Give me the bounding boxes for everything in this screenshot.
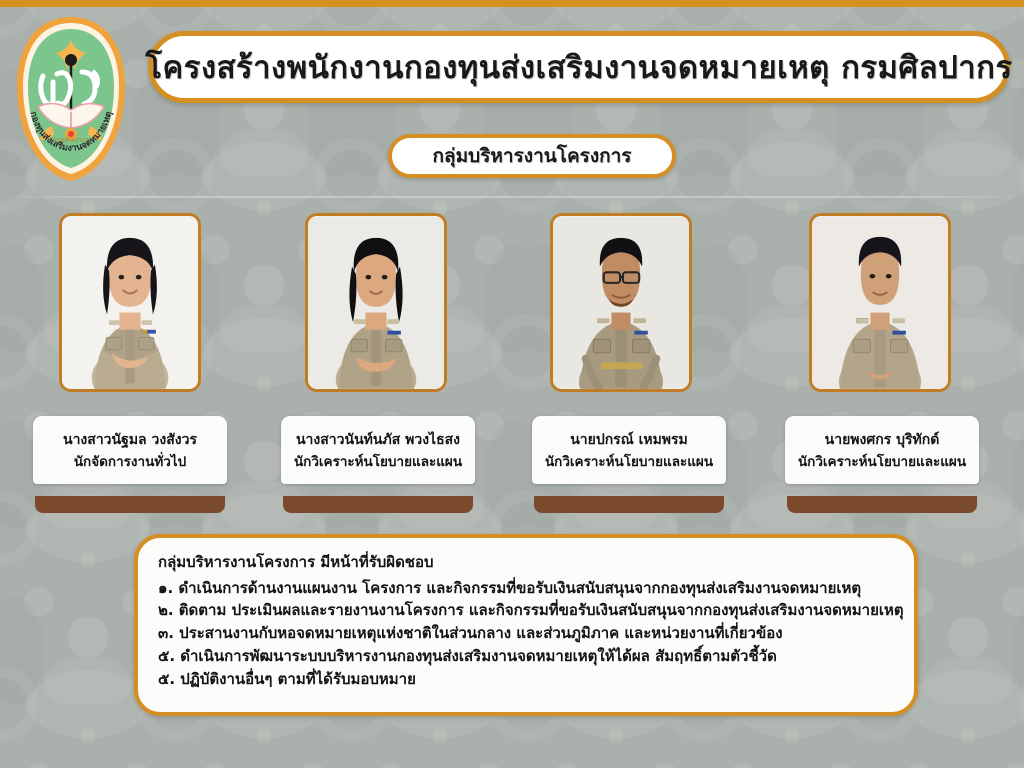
duty-item-4: ๕. ดำเนินการพัฒนาระบบบริหารงานกองทุนส่งเ… <box>158 645 894 668</box>
poster-canvas: กรมศิลปากร กองทุนส่งเสริมงานจดหมายเหตุ โ… <box>0 0 1024 768</box>
duty-item-2: ๒. ติดตาม ประเมินผลและรายงานงานโครงการ แ… <box>158 599 894 622</box>
person-card-footer-bar <box>534 496 724 513</box>
top-accent-bar <box>0 0 1024 7</box>
person-name: นางสาวนันท์นภัส พวงไธสง <box>287 430 469 452</box>
person-position: นักวิเคราะห์นโยบายและแผน <box>287 452 469 473</box>
person-photo <box>308 216 444 389</box>
person-photo-frame <box>550 213 692 392</box>
group-name-label: กลุ่มบริหารงานโครงการ <box>432 141 631 171</box>
person-card: นายพงศกร บุริทักด์ นักวิเคราะห์นโยบายและ… <box>785 213 979 392</box>
page-title: โครงสร้างพนักงานกองทุนส่งเสริมงานจดหมายเ… <box>145 42 1012 92</box>
person-name-card: นางสาวนัฐมล วงสังวร นักจัดการงานทั่วไป <box>33 416 227 484</box>
person-photo-frame <box>59 213 201 392</box>
person-name: นางสาวนัฐมล วงสังวร <box>39 430 221 452</box>
poster-title-banner: โครงสร้างพนักงานกองทุนส่งเสริมงานจดหมายเ… <box>148 31 1010 103</box>
person-card-footer-bar <box>35 496 225 513</box>
person-photo <box>553 216 689 389</box>
person-photo <box>812 216 948 389</box>
person-card-footer-bar <box>787 496 977 513</box>
person-card: นางสาวนัฐมล วงสังวร นักจัดการงานทั่วไป <box>33 213 227 392</box>
person-name-card: นางสาวนันท์นภัส พวงไธสง นักวิเคราะห์นโยบ… <box>281 416 475 484</box>
person-name-card: นายปกรณ์ เหมพรม นักวิเคราะห์นโยบายและแผน <box>532 416 726 484</box>
background-divider-line <box>0 196 1024 198</box>
person-position: นักวิเคราะห์นโยบายและแผน <box>538 452 720 473</box>
person-position: นักวิเคราะห์นโยบายและแผน <box>791 452 973 473</box>
person-card: นางสาวนันท์นภัส พวงไธสง นักวิเคราะห์นโยบ… <box>281 213 475 392</box>
fine-arts-department-emblem-logo: กรมศิลปากร กองทุนส่งเสริมงานจดหมายเหตุ <box>12 14 130 184</box>
person-name: นายปกรณ์ เหมพรม <box>538 430 720 452</box>
duty-item-1: ๑. ดำเนินการด้านงานแผนงาน โครงการ และกิจ… <box>158 577 894 600</box>
person-photo <box>62 216 198 389</box>
people-row: นางสาวนัฐมล วงสังวร นักจัดการงานทั่วไป <box>0 213 1024 513</box>
person-photo-frame <box>809 213 951 392</box>
person-photo-frame <box>305 213 447 392</box>
duties-heading: กลุ่มบริหารงานโครงการ มีหน้าที่รับผิดชอบ <box>158 551 894 574</box>
duty-item-3: ๓. ประสานงานกับหอจดหมายเหตุแห่งชาติในส่ว… <box>158 622 894 645</box>
person-name-card: นายพงศกร บุริทักด์ นักวิเคราะห์นโยบายและ… <box>785 416 979 484</box>
group-name-banner: กลุ่มบริหารงานโครงการ <box>388 134 676 178</box>
emblem-icon: กรมศิลปากร กองทุนส่งเสริมงานจดหมายเหตุ <box>12 14 130 184</box>
duties-panel: กลุ่มบริหารงานโครงการ มีหน้าที่รับผิดชอบ… <box>134 534 918 716</box>
person-name: นายพงศกร บุริทักด์ <box>791 430 973 452</box>
person-position: นักจัดการงานทั่วไป <box>39 452 221 473</box>
person-card: นายปกรณ์ เหมพรม นักวิเคราะห์นโยบายและแผน <box>532 213 726 392</box>
person-card-footer-bar <box>283 496 473 513</box>
duty-item-5: ๕. ปฏิบัติงานอื่นๆ ตามที่ได้รับมอบหมาย <box>158 668 894 691</box>
